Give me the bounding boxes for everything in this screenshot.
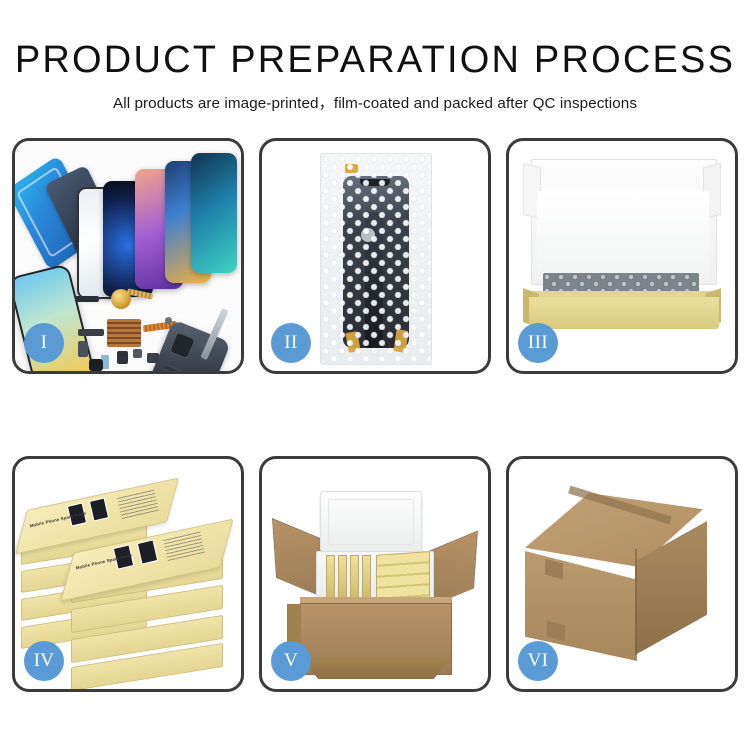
bubble-texture-icon [321, 154, 431, 364]
process-step-panel-4[interactable]: Mobile Phone Spare Parts Mobile Phone Sp… [12, 456, 244, 692]
process-steps-grid: I II [12, 138, 738, 692]
camera-module-icon [89, 359, 103, 371]
inner-box-icon [350, 555, 359, 601]
bubble-wrap-bag-icon [320, 153, 432, 365]
header: PRODUCT PREPARATION PROCESS All products… [0, 38, 750, 113]
phone-screen-teal-icon [191, 153, 237, 273]
chip-array-icon [107, 319, 141, 347]
connector-part-icon [78, 329, 104, 336]
screw-icon [165, 317, 172, 324]
step-badge-6: VI [518, 641, 558, 681]
process-step-panel-6[interactable]: VI [506, 456, 738, 692]
step-badge-3: III [518, 323, 558, 363]
process-step-panel-5[interactable]: V [259, 456, 491, 692]
inner-box-icon [338, 555, 347, 601]
ic-chip-small-icon [133, 349, 142, 358]
process-step-panel-3[interactable]: III [506, 138, 738, 374]
small-part-icon [78, 341, 88, 357]
carton-vertical-edge-icon [635, 549, 637, 655]
speaker-part-icon [75, 296, 99, 302]
foam-sheet-icon [537, 191, 709, 279]
inner-box-icon [362, 555, 371, 601]
step-badge-1: I [24, 323, 64, 363]
inner-box-icon [326, 555, 335, 601]
step-badge-5: V [271, 641, 311, 681]
process-step-panel-2[interactable]: II [259, 138, 491, 374]
carton-base-icon [300, 657, 452, 679]
ic-chip-icon [117, 351, 128, 364]
page-subtitle: All products are image-printed，film-coat… [0, 91, 750, 113]
box-front-panel-icon [529, 297, 719, 329]
page-title: PRODUCT PREPARATION PROCESS [0, 38, 750, 82]
product-preparation-infographic: PRODUCT PREPARATION PROCESS All products… [0, 0, 750, 750]
step-badge-2: II [271, 323, 311, 363]
step-badge-4: IV [24, 641, 64, 681]
foam-box-lid-icon [320, 491, 422, 553]
process-step-panel-1[interactable]: I [12, 138, 244, 374]
